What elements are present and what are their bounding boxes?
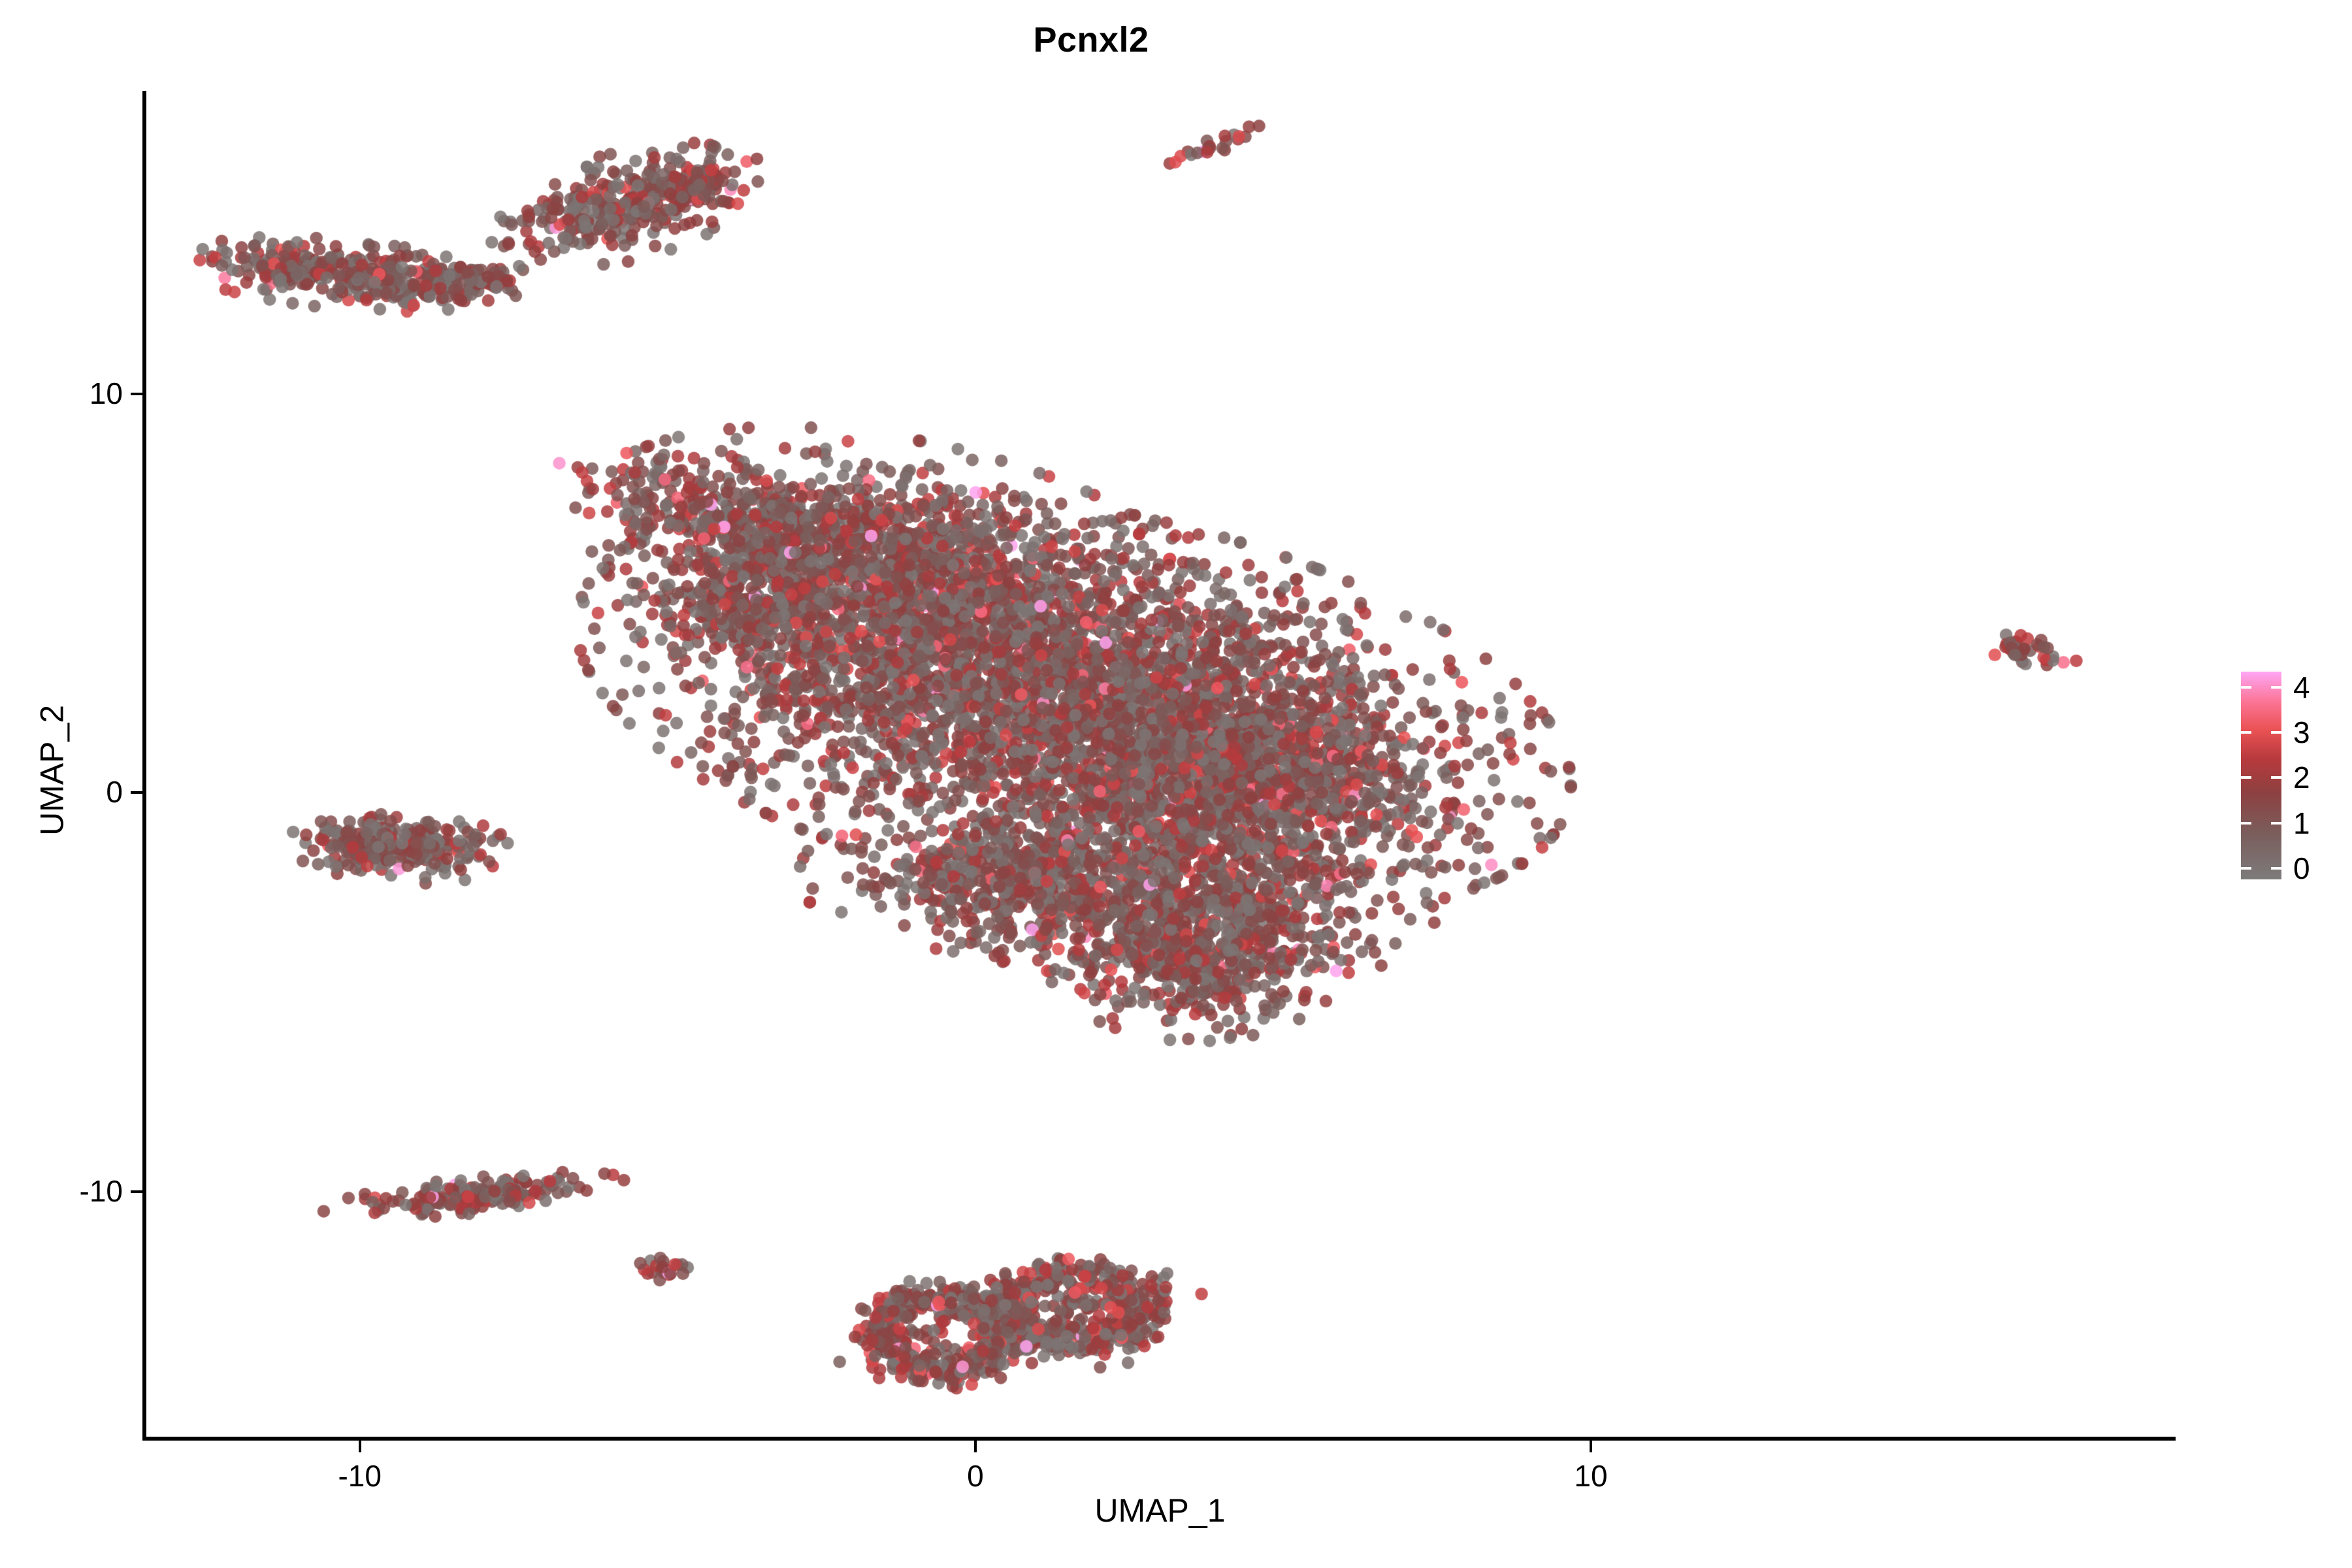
y-tick-label: 0 (106, 774, 123, 809)
x-tick-label: 0 (897, 1458, 1054, 1494)
legend-tick-mark (2241, 776, 2251, 779)
legend-tick-mark (2241, 731, 2251, 734)
legend-tick-mark (2241, 686, 2251, 689)
x-axis-title: UMAP_1 (144, 1492, 2176, 1529)
legend-tick-mark (2271, 776, 2281, 779)
legend-tick-label: 4 (2293, 672, 2310, 702)
legend-tick-mark (2241, 867, 2251, 870)
x-tick-mark (359, 1441, 361, 1452)
y-axis-title: UMAP_2 (33, 97, 71, 1445)
legend-tick-label: 0 (2293, 853, 2310, 883)
legend-tick-mark (2271, 731, 2281, 734)
scatter-points-canvas (144, 91, 2176, 1439)
color-legend[interactable]: 01234 (2241, 666, 2339, 889)
legend-tick-mark (2271, 822, 2281, 825)
legend-tick-label: 3 (2293, 717, 2310, 747)
x-tick-mark (974, 1441, 977, 1452)
legend-tick-label: 1 (2293, 808, 2310, 838)
y-axis-line (142, 91, 146, 1441)
legend-tick-label: 2 (2293, 762, 2310, 792)
legend-tick-mark (2241, 822, 2251, 825)
y-tick-mark (131, 791, 142, 794)
x-tick-mark (1590, 1441, 1592, 1452)
legend-colorbar[interactable] (2241, 672, 2281, 879)
y-tick-label: 10 (90, 376, 123, 411)
x-axis-line (142, 1437, 2176, 1441)
y-tick-label: -10 (80, 1173, 123, 1209)
legend-tick-mark (2271, 686, 2281, 689)
y-tick-mark (131, 393, 142, 395)
page-title: Pcnxl2 (0, 20, 2182, 60)
x-tick-label: 10 (1512, 1458, 1669, 1494)
y-tick-mark (131, 1190, 142, 1193)
x-tick-label: -10 (282, 1458, 438, 1494)
plot-panel (144, 91, 2176, 1439)
umap-feature-plot: Pcnxl2 -10010 -10010 UMAP_1 UMAP_2 01234 (0, 0, 2352, 1568)
legend-tick-mark (2271, 867, 2281, 870)
